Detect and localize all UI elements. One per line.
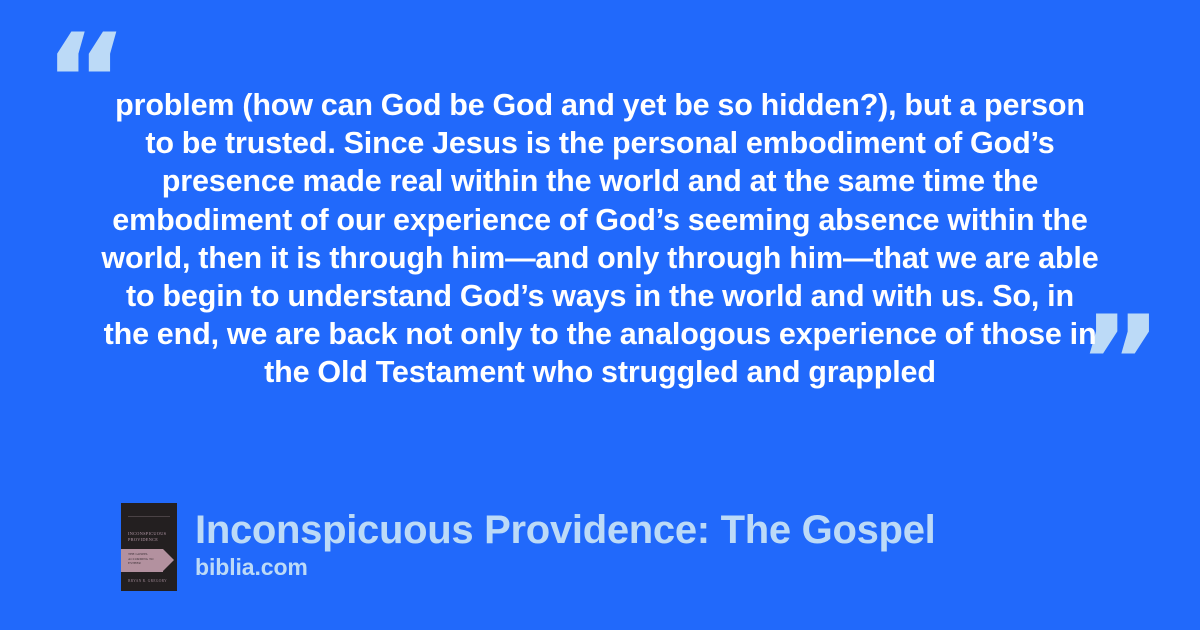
- attribution: INCONSPICUOUS PROVIDENCE THE GOSPEL ACCO…: [121, 503, 935, 591]
- book-cover-thumbnail: INCONSPICUOUS PROVIDENCE THE GOSPEL ACCO…: [121, 503, 177, 591]
- source-url[interactable]: biblia.com: [195, 553, 935, 581]
- book-cover-rule: [128, 516, 170, 517]
- book-cover-subtitle: THE GOSPEL ACCORDING TO ESTHER: [128, 552, 160, 566]
- book-cover-band-arrow: [163, 549, 174, 571]
- attribution-text: Inconspicuous Providence: The Gospel bib…: [195, 503, 935, 581]
- book-cover-title: INCONSPICUOUS PROVIDENCE: [128, 531, 170, 543]
- quote-text: problem (how can God be God and yet be s…: [100, 86, 1100, 392]
- quote-card: “ ” problem (how can God be God and yet …: [0, 0, 1200, 630]
- book-cover-author: BRYAN R. GREGORY: [128, 579, 172, 583]
- quote-text-block: problem (how can God be God and yet be s…: [100, 86, 1100, 392]
- book-title: Inconspicuous Providence: The Gospel: [195, 507, 935, 553]
